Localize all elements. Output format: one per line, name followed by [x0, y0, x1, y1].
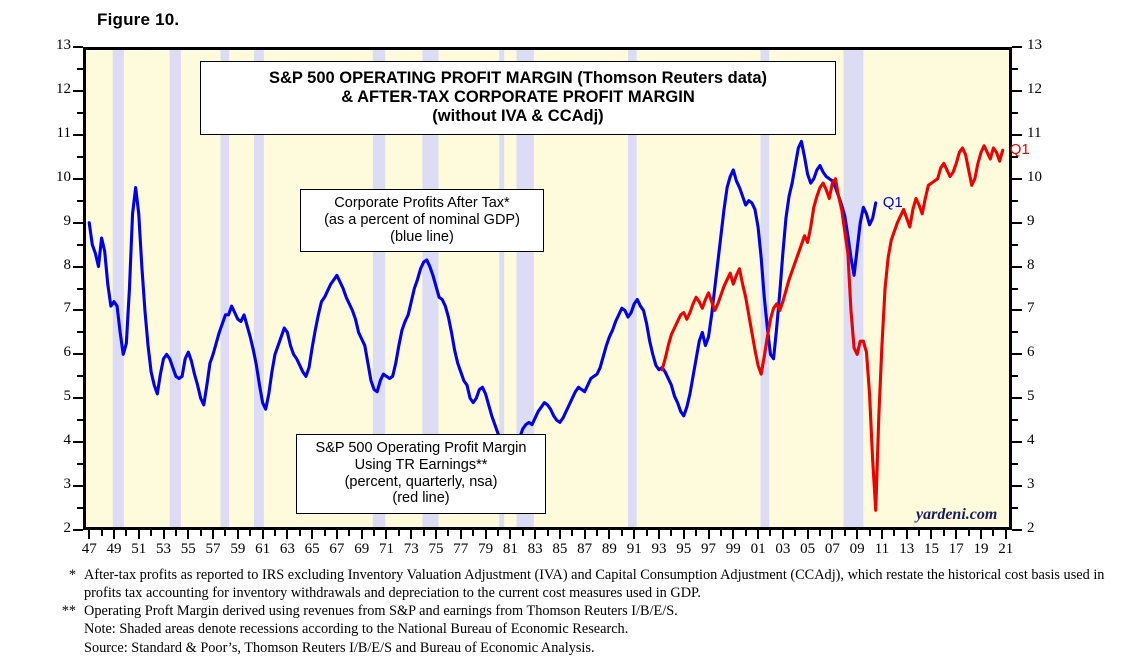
- recession-band: [113, 47, 124, 530]
- x-axis-tick-label: 89: [602, 541, 617, 558]
- x-major-tick: [187, 530, 189, 539]
- blue-legend-line-2: (as a percent of nominal GDP): [305, 212, 539, 229]
- y-major-tick: [1012, 309, 1022, 311]
- x-axis-tick-label: 03: [775, 541, 790, 558]
- footnotes-block: *After-tax profits as reported to IRS ex…: [58, 566, 1118, 657]
- y-minor-tick: [77, 156, 83, 158]
- x-minor-tick: [274, 530, 276, 536]
- y-minor-tick: [77, 507, 83, 509]
- x-axis-tick-label: 59: [230, 541, 245, 558]
- x-axis-tick-label: 47: [82, 541, 97, 558]
- x-major-tick: [683, 530, 685, 539]
- chart-title-line-1: S&P 500 OPERATING PROFIT MARGIN (Thomson…: [207, 69, 829, 88]
- chart-title-box: S&P 500 OPERATING PROFIT MARGIN (Thomson…: [200, 61, 836, 135]
- y-major-tick: [1012, 441, 1022, 443]
- x-minor-tick: [621, 530, 623, 536]
- x-major-tick: [534, 530, 536, 539]
- x-axis-tick-label: 91: [627, 541, 642, 558]
- y-minor-tick: [1012, 288, 1018, 290]
- x-axis-tick-label: 15: [924, 541, 939, 558]
- x-minor-tick: [571, 530, 573, 536]
- x-minor-tick: [968, 530, 970, 536]
- x-minor-tick: [101, 530, 103, 536]
- x-major-tick: [88, 530, 90, 539]
- x-axis-tick-label: 51: [131, 541, 146, 558]
- x-axis-tick-label: 77: [453, 541, 468, 558]
- x-major-tick: [1005, 530, 1007, 539]
- y-axis-tick-label-right: 4: [1027, 432, 1067, 449]
- x-axis-tick-label: 55: [181, 541, 196, 558]
- x-axis-tick-label: 99: [726, 541, 741, 558]
- footnote-marker: *: [58, 566, 84, 584]
- y-major-tick: [73, 134, 83, 136]
- y-axis-tick-label-left: 9: [31, 213, 71, 230]
- x-minor-tick: [373, 530, 375, 536]
- x-major-tick: [732, 530, 734, 539]
- y-axis-tick-label-right: 12: [1027, 81, 1067, 98]
- red-legend-line-1: S&P 500 Operating Profit Margin: [301, 440, 541, 457]
- y-axis-tick-label-left: 13: [31, 37, 71, 54]
- x-major-tick: [906, 530, 908, 539]
- x-major-tick: [658, 530, 660, 539]
- y-major-tick: [1012, 46, 1022, 48]
- footnote-marker: **: [58, 602, 84, 620]
- y-axis-tick-label-left: 10: [31, 169, 71, 186]
- y-major-tick: [73, 485, 83, 487]
- y-axis-tick-label-right: 10: [1027, 169, 1067, 186]
- y-axis-tick-label-left: 5: [31, 388, 71, 405]
- y-major-tick: [73, 266, 83, 268]
- x-minor-tick: [324, 530, 326, 536]
- x-minor-tick: [497, 530, 499, 536]
- x-minor-tick: [175, 530, 177, 536]
- footnote-text: After-tax profits as reported to IRS exc…: [84, 566, 1118, 602]
- x-axis-tick-label: 49: [106, 541, 121, 558]
- x-axis-tick-label: 65: [305, 541, 320, 558]
- y-minor-tick: [1012, 463, 1018, 465]
- x-major-tick: [460, 530, 462, 539]
- chart-title-line-2: & AFTER-TAX CORPORATE PROFIT MARGIN: [207, 88, 829, 107]
- y-major-tick: [1012, 529, 1022, 531]
- x-minor-tick: [695, 530, 697, 536]
- x-axis-tick-label: 09: [850, 541, 865, 558]
- footnote-row: *After-tax profits as reported to IRS ex…: [58, 566, 1118, 602]
- x-axis-tick-label: 71: [379, 541, 394, 558]
- y-axis-tick-label-left: 2: [31, 520, 71, 537]
- x-major-tick: [757, 530, 759, 539]
- y-minor-tick: [1012, 375, 1018, 377]
- y-axis-tick-label-right: 3: [1027, 476, 1067, 493]
- x-major-tick: [608, 530, 610, 539]
- figure-root: Figure 10. S&P 500 OPERATING PROFIT MARG…: [0, 0, 1138, 659]
- x-major-tick: [485, 530, 487, 539]
- x-minor-tick: [819, 530, 821, 536]
- x-axis-tick-label: 81: [503, 541, 518, 558]
- y-axis-tick-label-left: 12: [31, 81, 71, 98]
- y-minor-tick: [77, 200, 83, 202]
- x-major-tick: [782, 530, 784, 539]
- footnote-text: Source: Standard & Poor’s, Thomson Reute…: [84, 639, 1118, 657]
- x-major-tick: [584, 530, 586, 539]
- footnote-row: **Operating Proft Margin derived using r…: [58, 602, 1118, 620]
- x-axis-tick-label: 19: [974, 541, 989, 558]
- x-minor-tick: [348, 530, 350, 536]
- y-major-tick: [1012, 266, 1022, 268]
- x-axis-tick-label: 63: [280, 541, 295, 558]
- y-major-tick: [1012, 178, 1022, 180]
- x-minor-tick: [596, 530, 598, 536]
- x-minor-tick: [447, 530, 449, 536]
- recession-band: [844, 47, 864, 530]
- y-axis-tick-label-left: 4: [31, 432, 71, 449]
- x-minor-tick: [299, 530, 301, 536]
- x-major-tick: [807, 530, 809, 539]
- x-axis-tick-label: 73: [404, 541, 419, 558]
- x-major-tick: [831, 530, 833, 539]
- x-major-tick: [559, 530, 561, 539]
- y-major-tick: [1012, 397, 1022, 399]
- x-major-tick: [856, 530, 858, 539]
- x-major-tick: [113, 530, 115, 539]
- y-minor-tick: [77, 68, 83, 70]
- x-minor-tick: [224, 530, 226, 536]
- x-minor-tick: [844, 530, 846, 536]
- y-major-tick: [73, 397, 83, 399]
- x-minor-tick: [125, 530, 127, 536]
- x-major-tick: [708, 530, 710, 539]
- x-major-tick: [262, 530, 264, 539]
- x-major-tick: [955, 530, 957, 539]
- y-major-tick: [1012, 134, 1022, 136]
- y-minor-tick: [77, 463, 83, 465]
- x-major-tick: [509, 530, 511, 539]
- x-axis-tick-label: 07: [825, 541, 840, 558]
- y-minor-tick: [1012, 419, 1018, 421]
- x-axis-tick-label: 95: [676, 541, 691, 558]
- x-axis-tick-label: 87: [577, 541, 592, 558]
- x-axis-tick-label: 75: [429, 541, 444, 558]
- x-major-tick: [336, 530, 338, 539]
- x-minor-tick: [869, 530, 871, 536]
- blue-series-end-label: Q1: [883, 194, 903, 211]
- y-axis-tick-label-left: 3: [31, 476, 71, 493]
- x-minor-tick: [472, 530, 474, 536]
- x-minor-tick: [794, 530, 796, 536]
- x-major-tick: [435, 530, 437, 539]
- y-major-tick: [1012, 222, 1022, 224]
- y-axis-tick-label-left: 8: [31, 257, 71, 274]
- blue-legend-line-1: Corporate Profits After Tax*: [305, 195, 539, 212]
- y-major-tick: [1012, 485, 1022, 487]
- footnote-row: Note: Shaded areas denote recessions acc…: [58, 620, 1118, 638]
- x-major-tick: [286, 530, 288, 539]
- x-axis-tick-label: 97: [701, 541, 716, 558]
- y-axis-tick-label-left: 7: [31, 300, 71, 317]
- y-axis-tick-label-right: 2: [1027, 520, 1067, 537]
- y-axis-tick-label-left: 6: [31, 344, 71, 361]
- x-major-tick: [881, 530, 883, 539]
- y-major-tick: [73, 353, 83, 355]
- x-axis-tick-label: 61: [255, 541, 270, 558]
- y-axis-tick-label-right: 13: [1027, 37, 1067, 54]
- recession-band: [170, 47, 181, 530]
- x-axis-tick-label: 05: [800, 541, 815, 558]
- x-minor-tick: [893, 530, 895, 536]
- y-major-tick: [73, 309, 83, 311]
- y-minor-tick: [1012, 112, 1018, 114]
- x-major-tick: [138, 530, 140, 539]
- x-major-tick: [633, 530, 635, 539]
- y-major-tick: [73, 222, 83, 224]
- footnote-text: Operating Proft Margin derived using rev…: [84, 602, 1118, 620]
- y-minor-tick: [77, 419, 83, 421]
- blue-legend-line-3: (blue line): [305, 229, 539, 246]
- x-axis-tick-label: 17: [949, 541, 964, 558]
- x-major-tick: [385, 530, 387, 539]
- x-major-tick: [237, 530, 239, 539]
- x-major-tick: [311, 530, 313, 539]
- x-minor-tick: [918, 530, 920, 536]
- x-minor-tick: [249, 530, 251, 536]
- y-major-tick: [73, 529, 83, 531]
- x-minor-tick: [670, 530, 672, 536]
- x-minor-tick: [992, 530, 994, 536]
- y-minor-tick: [77, 244, 83, 246]
- x-minor-tick: [522, 530, 524, 536]
- y-minor-tick: [1012, 244, 1018, 246]
- y-axis-tick-label-left: 11: [31, 125, 71, 142]
- y-axis-tick-label-right: 5: [1027, 388, 1067, 405]
- x-major-tick: [361, 530, 363, 539]
- y-major-tick: [73, 90, 83, 92]
- x-minor-tick: [547, 530, 549, 536]
- y-minor-tick: [77, 375, 83, 377]
- y-minor-tick: [77, 331, 83, 333]
- y-axis-tick-label-right: 8: [1027, 257, 1067, 274]
- x-minor-tick: [398, 530, 400, 536]
- y-axis-tick-label-right: 7: [1027, 300, 1067, 317]
- y-major-tick: [73, 178, 83, 180]
- x-axis-tick-label: 13: [899, 541, 914, 558]
- red-series-legend-box: S&P 500 Operating Profit Margin Using TR…: [296, 434, 546, 514]
- x-axis-tick-label: 69: [354, 541, 369, 558]
- x-axis-tick-label: 21: [998, 541, 1013, 558]
- y-minor-tick: [1012, 507, 1018, 509]
- red-legend-line-4: (red line): [301, 490, 541, 507]
- footnote-row: Source: Standard & Poor’s, Thomson Reute…: [58, 639, 1118, 657]
- x-major-tick: [212, 530, 214, 539]
- red-legend-line-3: (percent, quarterly, nsa): [301, 474, 541, 491]
- x-minor-tick: [720, 530, 722, 536]
- x-minor-tick: [943, 530, 945, 536]
- x-axis-tick-label: 93: [651, 541, 666, 558]
- y-major-tick: [1012, 353, 1022, 355]
- x-minor-tick: [646, 530, 648, 536]
- y-major-tick: [73, 441, 83, 443]
- x-major-tick: [980, 530, 982, 539]
- x-axis-tick-label: 57: [206, 541, 221, 558]
- y-minor-tick: [1012, 331, 1018, 333]
- x-minor-tick: [423, 530, 425, 536]
- x-axis-tick-label: 53: [156, 541, 171, 558]
- x-major-tick: [163, 530, 165, 539]
- y-axis-tick-label-right: 11: [1027, 125, 1067, 142]
- red-series-end-label: Q1: [1010, 141, 1030, 158]
- x-axis-tick-label: 79: [478, 541, 493, 558]
- x-minor-tick: [200, 530, 202, 536]
- yardeni-watermark: yardeni.com: [916, 506, 997, 524]
- x-axis-tick-label: 85: [552, 541, 567, 558]
- y-minor-tick: [77, 288, 83, 290]
- footnote-text: Note: Shaded areas denote recessions acc…: [84, 620, 1118, 638]
- x-minor-tick: [745, 530, 747, 536]
- x-minor-tick: [769, 530, 771, 536]
- red-legend-line-2: Using TR Earnings**: [301, 457, 541, 474]
- y-major-tick: [1012, 90, 1022, 92]
- x-major-tick: [930, 530, 932, 539]
- chart-title-line-3: (without IVA & CCAdj): [207, 107, 829, 126]
- y-axis-tick-label-right: 9: [1027, 213, 1067, 230]
- y-minor-tick: [1012, 200, 1018, 202]
- y-major-tick: [73, 46, 83, 48]
- x-axis-tick-label: 67: [329, 541, 344, 558]
- figure-number-label: Figure 10.: [97, 10, 179, 30]
- y-minor-tick: [77, 112, 83, 114]
- x-major-tick: [410, 530, 412, 539]
- x-minor-tick: [150, 530, 152, 536]
- y-minor-tick: [1012, 68, 1018, 70]
- x-axis-tick-label: 11: [875, 541, 889, 558]
- blue-series-legend-box: Corporate Profits After Tax* (as a perce…: [300, 189, 544, 252]
- y-axis-tick-label-right: 6: [1027, 344, 1067, 361]
- x-axis-tick-label: 83: [528, 541, 543, 558]
- x-axis-tick-label: 01: [751, 541, 766, 558]
